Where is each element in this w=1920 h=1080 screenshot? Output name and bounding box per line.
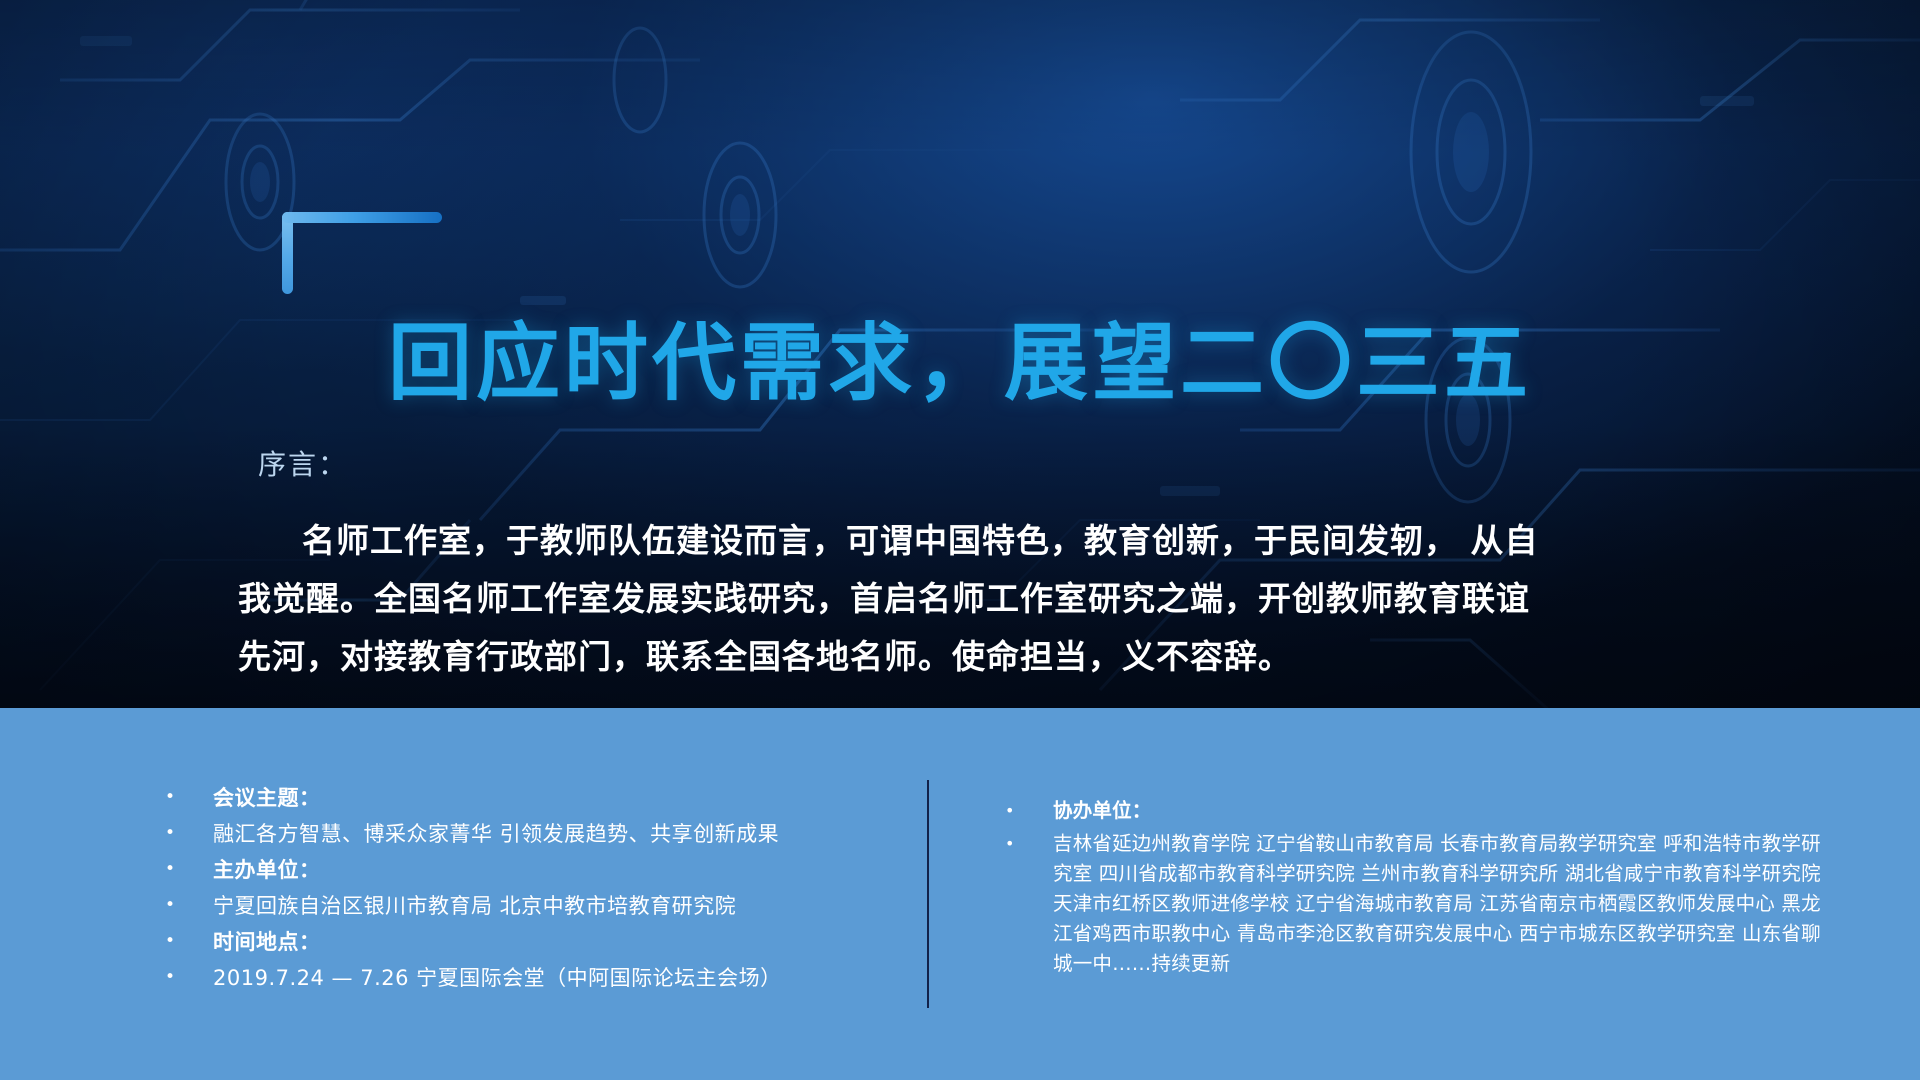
list-item: • 时间地点： [165,926,895,958]
datetime-location-value: 2019.7.24 — 7.26 宁夏国际会堂（中阿国际论坛主会场） [213,962,895,994]
meeting-theme-value: 融汇各方智慧、博采众家菁华 引领发展趋势、共享创新成果 [213,818,895,850]
preface-label: 序言： [258,443,348,483]
organizer-label: 主办单位： [213,854,895,886]
hero-section: 回应时代需求，展望二〇三五 序言： 名师工作室，于教师队伍建设而言，可谓中国特色… [0,0,1920,708]
list-item: • 会议主题： [165,782,895,814]
meeting-info-column: • 会议主题： • 融汇各方智慧、博采众家菁华 引领发展趋势、共享创新成果 • … [165,782,895,998]
organizer-value: 宁夏回族自治区银川市教育局 北京中教市培教育研究院 [213,890,895,922]
corner-bracket-icon [282,212,442,294]
co-organizer-column: • 协办单位： • 吉林省延边州教育学院 辽宁省鞍山市教育局 长春市教育局教学研… [1005,796,1825,982]
column-divider [927,780,929,1008]
bullet-icon: • [165,854,213,885]
list-item: • 融汇各方智慧、博采众家菁华 引领发展趋势、共享创新成果 [165,818,895,850]
bullet-icon: • [165,962,213,993]
list-item: • 2019.7.24 — 7.26 宁夏国际会堂（中阿国际论坛主会场） [165,962,895,994]
co-organizer-value: 吉林省延边州教育学院 辽宁省鞍山市教育局 长春市教育局教学研究室 呼和浩特市教学… [1053,829,1825,979]
bullet-icon: • [165,818,213,849]
co-organizer-label: 协办单位： [1053,796,1825,826]
preface-line: 先河，对接教育行政部门，联系全国各地名师。使命担当，义不容辞。 [238,628,1688,686]
list-item: • 吉林省延边州教育学院 辽宁省鞍山市教育局 长春市教育局教学研究室 呼和浩特市… [1005,829,1825,979]
preface-line: 我觉醒。全国名师工作室发展实践研究，首启名师工作室研究之端，开创教师教育联谊 [238,570,1688,628]
bullet-icon: • [165,782,213,813]
bullet-icon: • [165,890,213,921]
list-item: • 主办单位： [165,854,895,886]
bullet-icon: • [1005,796,1053,826]
bracket-horizontal-arm [282,212,442,223]
bullet-icon: • [165,926,213,957]
bullet-icon: • [1005,829,1053,859]
datetime-location-label: 时间地点： [213,926,895,958]
preface-line: 名师工作室，于教师队伍建设而言，可谓中国特色，教育创新，于民间发轫， 从自 [238,512,1688,570]
meeting-theme-label: 会议主题： [213,782,895,814]
preface-body: 名师工作室，于教师队伍建设而言，可谓中国特色，教育创新，于民间发轫， 从自 我觉… [238,512,1688,686]
bracket-vertical-arm [282,212,293,294]
page-title: 回应时代需求，展望二〇三五 [0,296,1920,417]
list-item: • 协办单位： [1005,796,1825,826]
presentation-slide: 回应时代需求，展望二〇三五 序言： 名师工作室，于教师队伍建设而言，可谓中国特色… [0,0,1920,1080]
list-item: • 宁夏回族自治区银川市教育局 北京中教市培教育研究院 [165,890,895,922]
